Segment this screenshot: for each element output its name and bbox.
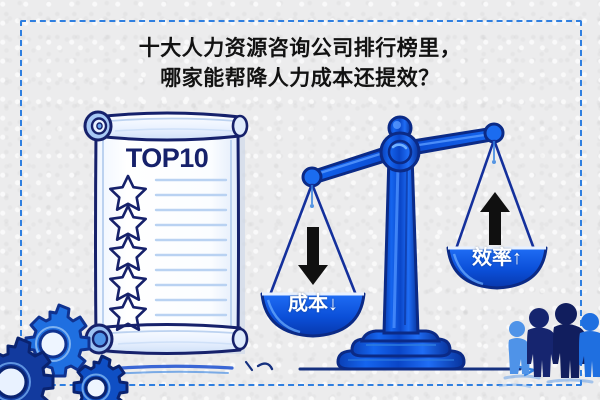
people-silhouettes (500, 303, 600, 387)
scroll-heading-text: TOP10 (126, 143, 209, 173)
right-pan-label-text: 效率↑ (472, 247, 522, 269)
scale-base (338, 331, 464, 369)
scroll-top-roll (85, 112, 247, 140)
scale-hub (381, 117, 419, 171)
cost-down-arrow-icon (298, 227, 328, 285)
scroll-heading: TOP10 (96, 143, 238, 174)
person-silhouette (509, 321, 531, 374)
left-pan-label: 成本↓ (262, 287, 364, 316)
scroll-bottom-roll (86, 325, 247, 354)
title-line-2: 哪家能帮降人力成本还提效？ (0, 64, 600, 94)
poster-canvas: 十大人力资源咨询公司排行榜里， 哪家能帮降人力成本还提效？ TOP10 成本↓ … (0, 0, 600, 400)
person-silhouette (527, 308, 557, 377)
page-title: 十大人力资源咨询公司排行榜里， 哪家能帮降人力成本还提效？ (0, 34, 600, 94)
person-silhouette (579, 313, 600, 377)
title-line-1: 十大人力资源咨询公司排行榜里， (139, 37, 462, 60)
efficiency-up-arrow-icon (480, 192, 510, 245)
right-pan-label: 效率↑ (448, 241, 546, 270)
ground-lines (108, 362, 534, 375)
left-pan-label-text: 成本↓ (288, 293, 338, 315)
